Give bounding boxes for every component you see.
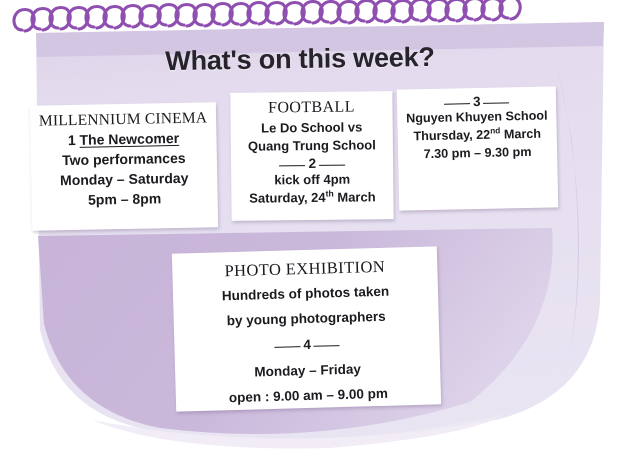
blank-number-3: 3 bbox=[473, 94, 480, 109]
blank-rule-right bbox=[313, 336, 339, 347]
date-month: March bbox=[500, 127, 541, 142]
notice-line: 5pm – 8pm bbox=[35, 188, 213, 211]
blank-answer-1: The Newcomer bbox=[79, 130, 179, 148]
notebook-page: What's on this week? MILLENNIUM CINEMA 1… bbox=[0, 0, 640, 459]
blank-number-4: 4 bbox=[303, 337, 310, 352]
notice-line: 7.30 pm – 9.30 pm bbox=[402, 143, 553, 164]
date-prefix: Thursday, 22 bbox=[413, 128, 490, 144]
blank-rule-right bbox=[483, 93, 509, 104]
blank-number-1: 1 bbox=[68, 132, 76, 148]
notice-card-millennium-cinema: MILLENNIUM CINEMA 1 The Newcomer Two per… bbox=[30, 102, 218, 231]
blank-rule-left bbox=[279, 156, 305, 166]
gap-fill-blank-2: 2 bbox=[235, 155, 389, 172]
date-month: March bbox=[334, 190, 376, 205]
notice-line-date: Saturday, 24th March bbox=[235, 189, 389, 209]
date-ordinal-suffix: nd bbox=[490, 125, 500, 135]
notice-card-football: FOOTBALL Le Do School vs Quang Trung Sch… bbox=[230, 91, 393, 221]
blank-number-2: 2 bbox=[308, 156, 315, 171]
blank-rule-left bbox=[274, 337, 300, 348]
notice-line: Monday – Saturday bbox=[35, 168, 213, 191]
notice-card-nguyen-khuyen-school: 3 Nguyen Khuyen School Thursday, 22nd Ma… bbox=[397, 86, 558, 210]
notice-line: kick off 4pm bbox=[235, 170, 389, 190]
notice-card-photo-exhibition: PHOTO EXHIBITION Hundreds of photos take… bbox=[172, 246, 441, 411]
notice-line: Quang Trung School bbox=[235, 137, 389, 157]
date-prefix: Saturday, 24 bbox=[249, 190, 326, 206]
notice-heading: FOOTBALL bbox=[234, 97, 388, 119]
blank-rule-left bbox=[444, 94, 470, 105]
notice-heading: MILLENNIUM CINEMA bbox=[34, 108, 212, 131]
notice-line: Le Do School vs bbox=[235, 118, 389, 138]
blank-rule-right bbox=[318, 156, 344, 166]
